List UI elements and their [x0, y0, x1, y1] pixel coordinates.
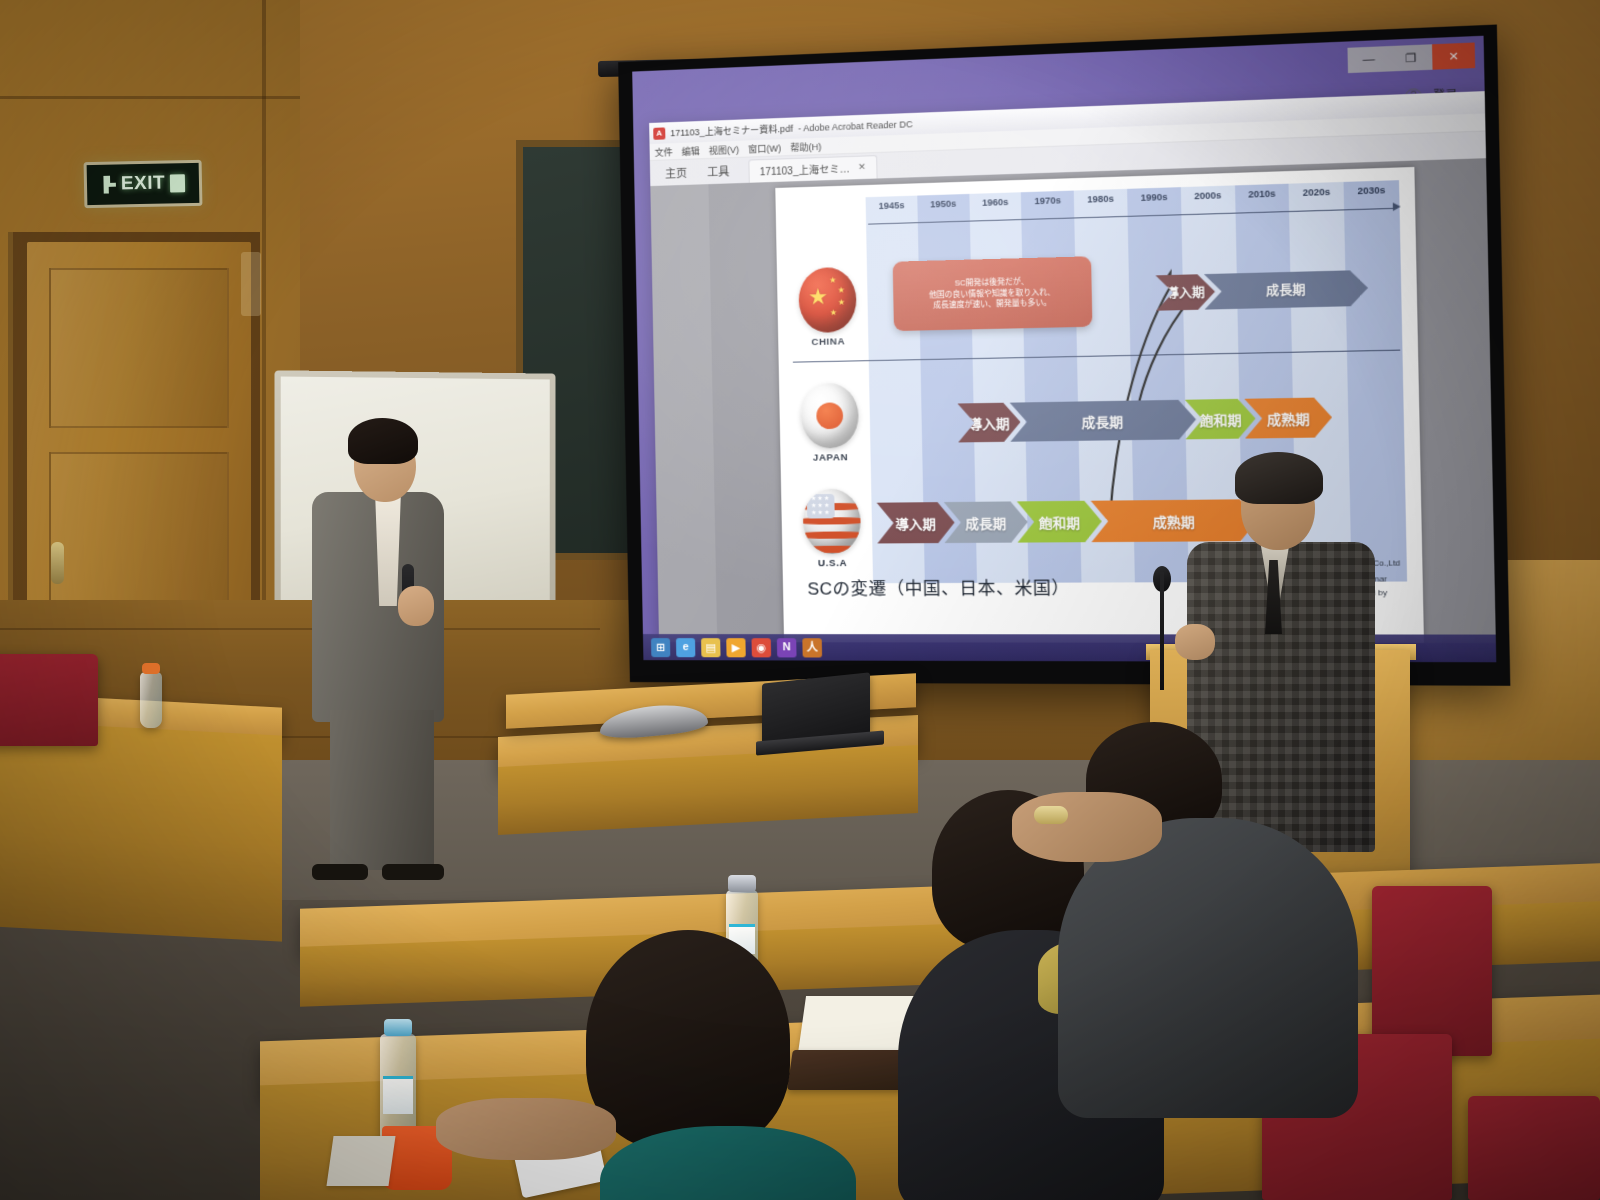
exit-sign: EXIT [84, 160, 203, 208]
audience-member-front-left [556, 930, 856, 1200]
decade-label-2010s: 2010s [1248, 188, 1276, 199]
tab-home[interactable]: 主页 [656, 161, 696, 185]
chair-far-right[interactable] [1468, 1096, 1600, 1200]
page-canvas: 1945s1950s1960s1970s1980s1990s2000s2010s… [708, 158, 1496, 643]
speaker-presenting [306, 414, 456, 874]
menu-item-file[interactable]: 文件 [655, 145, 673, 159]
window-title-app: - Adobe Acrobat Reader DC [798, 119, 913, 133]
door-handle[interactable] [51, 542, 64, 584]
decade-label-1960s: 1960s [982, 197, 1008, 208]
speaker-hands [398, 586, 434, 626]
audience-torso [1058, 818, 1358, 1118]
axis-arrow-icon [1393, 202, 1401, 211]
adobe-reader-icon[interactable]: 人 [802, 638, 822, 657]
usa-canton-stars: ★★★★★★★★★ [807, 494, 835, 519]
decade-label-1990s: 1990s [1140, 192, 1167, 203]
projection-screen: — ❐ ✕ ? 登录 A 171103_上海セミナー資料.pdf - Adobe… [618, 25, 1510, 686]
usa-flag-icon: ★★★★★★★★★ [803, 489, 862, 554]
navigation-pane[interactable] [650, 184, 717, 642]
slide-caption: SCの変遷（中国、日本、米国） [807, 573, 1070, 599]
wall-seam [0, 96, 300, 99]
audience-member-right [1028, 722, 1358, 1122]
file-explorer-icon[interactable]: ▤ [701, 638, 720, 657]
chair-left[interactable] [0, 654, 98, 746]
country-label-usa: U.S.A [793, 558, 873, 570]
decade-label-2020s: 2020s [1303, 187, 1331, 198]
menu-item-edit[interactable]: 编辑 [682, 144, 700, 158]
decade-label-2000s: 2000s [1194, 190, 1221, 201]
japan-flag-icon [800, 383, 859, 449]
exit-sign-label: EXIT [121, 173, 166, 196]
start-icon[interactable]: ⊞ [651, 638, 670, 657]
podium-microphone-stand [1160, 572, 1164, 690]
menu-item-help[interactable]: 帮助(H) [790, 139, 821, 153]
maximize-button[interactable]: ❐ [1390, 44, 1433, 71]
decade-label-1980s: 1980s [1087, 193, 1114, 204]
country-label-china: CHINA [788, 336, 868, 349]
close-button[interactable]: ✕ [1432, 43, 1475, 70]
door-icon [170, 174, 185, 192]
presenter-hand [1175, 624, 1215, 660]
audience-hair [586, 930, 790, 1150]
onenote-icon[interactable]: N [777, 638, 797, 657]
menu-item-window[interactable]: 窗口(W) [748, 141, 781, 155]
bottle-label [383, 1076, 413, 1114]
menu-item-view[interactable]: 视图(V) [709, 142, 740, 156]
tissue [326, 1136, 395, 1186]
window-title-document: 171103_上海セミナー資料.pdf [670, 122, 793, 140]
decade-label-1945s: 1945s [878, 200, 904, 211]
decade-label-1950s: 1950s [930, 198, 956, 209]
close-icon[interactable]: ✕ [858, 162, 866, 173]
bottle-cap [728, 875, 756, 892]
acrobat-icon: A [653, 127, 665, 139]
door-panel [49, 268, 229, 428]
tab-tools[interactable]: 工具 [698, 160, 739, 185]
wainscot-seam [0, 628, 600, 630]
audience-arm [1012, 792, 1162, 862]
china-callout: SC開発は後発だが、他国の良い情報や知識を取り入れ、成長速度が速い、開発量も多い… [893, 256, 1093, 331]
minimize-button[interactable]: — [1347, 46, 1390, 73]
bottle-cap [142, 663, 160, 674]
speaker-hair [348, 418, 418, 464]
speaker-shoe-left [312, 864, 368, 880]
speaker-shoe-right [382, 864, 444, 880]
door-window [241, 252, 261, 316]
internet-explorer-icon[interactable]: e [676, 638, 695, 657]
bottle-cap [384, 1019, 412, 1036]
wristwatch [1034, 806, 1068, 824]
country-china: ★ ★ ★ ★ ★ CHINA [787, 266, 868, 348]
audience-arm [436, 1098, 616, 1160]
callout-line-3: 成長速度が速い、開発量も多い。 [933, 298, 1051, 312]
stage-bar-japan-growth: 成長期 [1010, 400, 1197, 442]
running-man-icon [101, 176, 116, 194]
country-japan: JAPAN [789, 383, 870, 464]
water-bottle-left[interactable] [140, 672, 162, 728]
chair-right-back[interactable] [1372, 886, 1492, 1056]
decade-label-1970s: 1970s [1034, 195, 1061, 206]
speaker-trousers [330, 710, 434, 870]
country-label-japan: JAPAN [791, 452, 871, 464]
country-usa: ★★★★★★★★★ U.S.A [791, 488, 873, 569]
presenter-hair [1235, 452, 1323, 504]
screen-bezel: — ❐ ✕ ? 登录 A 171103_上海セミナー資料.pdf - Adobe… [618, 25, 1510, 686]
china-flag-icon: ★ ★ ★ ★ ★ [798, 267, 857, 333]
media-player-icon[interactable]: ▶ [726, 638, 746, 657]
tab-document-label: 171103_上海セミ… [760, 160, 850, 178]
chrome-icon[interactable]: ◉ [751, 638, 771, 657]
stage-bar-china-growth: 成長期 [1204, 270, 1368, 310]
side-desk-left-front [0, 720, 282, 941]
decade-label-2030s: 2030s [1358, 185, 1386, 196]
